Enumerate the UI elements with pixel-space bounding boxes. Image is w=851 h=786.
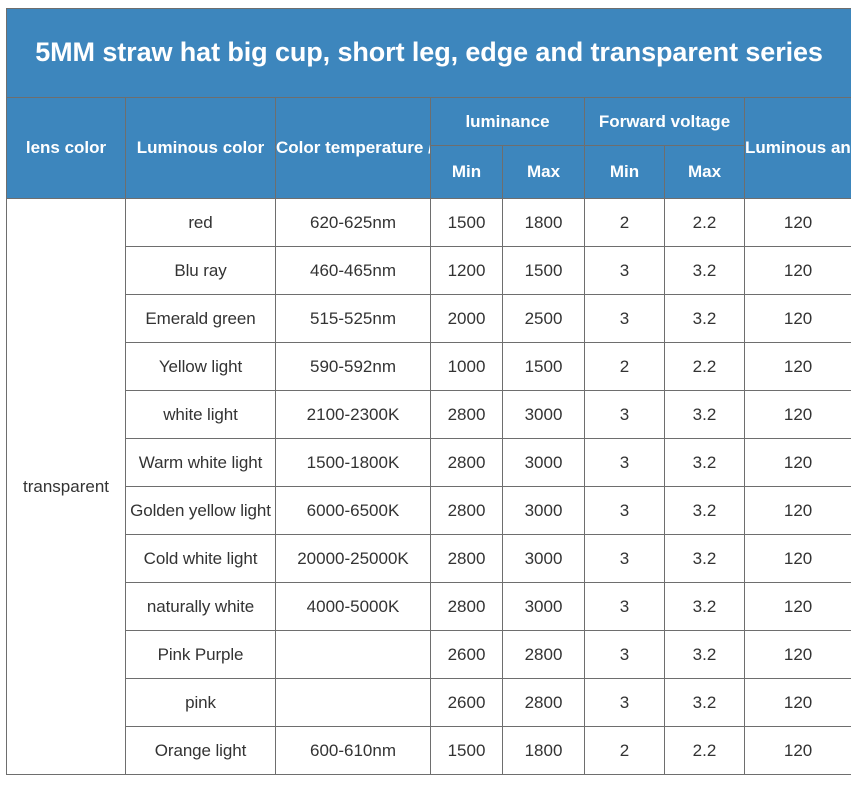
cell-voltage-min: 3 [585,439,665,487]
cell-luminance-min: 1500 [431,199,503,247]
cell-luminance-max: 3000 [503,487,585,535]
cell-luminance-min: 2600 [431,631,503,679]
table-row: white light2100-2300K2800300033.2120 [7,391,851,439]
cell-voltage-max: 3.2 [665,487,745,535]
cell-voltage-min: 3 [585,631,665,679]
cell-luminance-min: 2800 [431,535,503,583]
table-row: Warm white light1500-1800K2800300033.212… [7,439,851,487]
table-row: Orange light600-610nm1500180022.2120 [7,727,851,775]
table-row: pink2600280033.2120 [7,679,851,727]
cell-luminance-max: 2500 [503,295,585,343]
cell-luminous-color: Emerald green [126,295,276,343]
table-row: naturally white4000-5000K2800300033.2120 [7,583,851,631]
header-voltage-max: Max [665,146,745,199]
cell-luminance-max: 3000 [503,439,585,487]
cell-luminous-angle: 120 [745,439,851,487]
cell-luminous-angle: 120 [745,583,851,631]
cell-luminous-angle: 120 [745,199,851,247]
led-specification-table: 5MM straw hat big cup, short leg, edge a… [6,8,851,775]
cell-color-temperature: 590-592nm [276,343,431,391]
cell-luminous-color: Blu ray [126,247,276,295]
cell-luminance-max: 1500 [503,247,585,295]
cell-luminous-color: Golden yellow light [126,487,276,535]
cell-luminance-max: 1500 [503,343,585,391]
cell-luminous-color: pink [126,679,276,727]
table-body: transparentred620-625nm1500180022.2120Bl… [7,199,851,775]
cell-luminance-max: 3000 [503,391,585,439]
cell-luminous-angle: 120 [745,487,851,535]
cell-luminous-color: Pink Purple [126,631,276,679]
cell-luminance-max: 3000 [503,583,585,631]
cell-luminance-min: 2000 [431,295,503,343]
title-row: 5MM straw hat big cup, short leg, edge a… [7,9,851,98]
table-row: transparentred620-625nm1500180022.2120 [7,199,851,247]
cell-voltage-max: 3.2 [665,439,745,487]
table-row: Golden yellow light6000-6500K2800300033.… [7,487,851,535]
cell-voltage-max: 3.2 [665,583,745,631]
table-row: Cold white light20000-25000K2800300033.2… [7,535,851,583]
cell-luminance-max: 1800 [503,727,585,775]
header-luminance-group: luminance [431,98,585,146]
cell-luminous-angle: 120 [745,343,851,391]
cell-voltage-min: 2 [585,199,665,247]
cell-luminance-min: 1000 [431,343,503,391]
cell-luminous-color: Cold white light [126,535,276,583]
cell-luminous-angle: 120 [745,391,851,439]
cell-luminous-angle: 120 [745,679,851,727]
header-luminance-max: Max [503,146,585,199]
cell-voltage-min: 3 [585,679,665,727]
table-row: Emerald green515-525nm2000250033.2120 [7,295,851,343]
cell-voltage-max: 3.2 [665,295,745,343]
cell-luminance-min: 2600 [431,679,503,727]
table-row: Yellow light590-592nm1000150022.2120 [7,343,851,391]
cell-voltage-min: 3 [585,247,665,295]
cell-voltage-max: 3.2 [665,679,745,727]
header-luminous-color: Luminous color [126,98,276,199]
cell-luminous-angle: 120 [745,247,851,295]
cell-luminance-max: 2800 [503,679,585,727]
cell-color-temperature [276,679,431,727]
header-luminance-min: Min [431,146,503,199]
cell-luminous-color: naturally white [126,583,276,631]
cell-luminous-angle: 120 [745,727,851,775]
header-group-row: lens color Luminous color Color temperat… [7,98,851,146]
cell-voltage-min: 3 [585,487,665,535]
cell-voltage-min: 3 [585,391,665,439]
table-row: Blu ray460-465nm1200150033.2120 [7,247,851,295]
cell-luminance-min: 1500 [431,727,503,775]
cell-luminous-angle: 120 [745,535,851,583]
cell-color-temperature [276,631,431,679]
header-voltage-min: Min [585,146,665,199]
cell-luminous-angle: 120 [745,295,851,343]
cell-luminance-min: 2800 [431,487,503,535]
cell-voltage-max: 3.2 [665,631,745,679]
table-row: Pink Purple2600280033.2120 [7,631,851,679]
header-forward-voltage-group: Forward voltage [585,98,745,146]
cell-luminance-min: 1200 [431,247,503,295]
cell-voltage-min: 3 [585,583,665,631]
cell-color-temperature: 20000-25000K [276,535,431,583]
cell-color-temperature: 2100-2300K [276,391,431,439]
page-root: 5MM straw hat big cup, short leg, edge a… [0,0,851,786]
cell-luminous-color: red [126,199,276,247]
cell-luminance-max: 2800 [503,631,585,679]
cell-voltage-max: 3.2 [665,247,745,295]
cell-voltage-max: 3.2 [665,391,745,439]
cell-color-temperature: 620-625nm [276,199,431,247]
header-color-temperature: Color temperature / wavelength [276,98,431,199]
cell-voltage-min: 3 [585,295,665,343]
cell-color-temperature: 515-525nm [276,295,431,343]
cell-color-temperature: 600-610nm [276,727,431,775]
cell-voltage-min: 2 [585,343,665,391]
cell-luminous-angle: 120 [745,631,851,679]
cell-luminance-min: 2800 [431,439,503,487]
cell-luminous-color: Orange light [126,727,276,775]
cell-voltage-min: 3 [585,535,665,583]
cell-lens-color: transparent [7,199,126,775]
cell-luminous-color: Yellow light [126,343,276,391]
cell-color-temperature: 4000-5000K [276,583,431,631]
header-luminous-angle: Luminous angle [745,98,851,199]
cell-luminance-min: 2800 [431,583,503,631]
cell-luminance-max: 3000 [503,535,585,583]
cell-voltage-max: 3.2 [665,535,745,583]
cell-luminance-min: 2800 [431,391,503,439]
cell-voltage-max: 2.2 [665,343,745,391]
header-lens-color: lens color [7,98,126,199]
cell-color-temperature: 6000-6500K [276,487,431,535]
cell-color-temperature: 460-465nm [276,247,431,295]
cell-luminous-color: Warm white light [126,439,276,487]
cell-color-temperature: 1500-1800K [276,439,431,487]
cell-luminous-color: white light [126,391,276,439]
cell-voltage-max: 2.2 [665,199,745,247]
cell-luminance-max: 1800 [503,199,585,247]
cell-voltage-min: 2 [585,727,665,775]
table-title: 5MM straw hat big cup, short leg, edge a… [7,9,851,98]
cell-voltage-max: 2.2 [665,727,745,775]
